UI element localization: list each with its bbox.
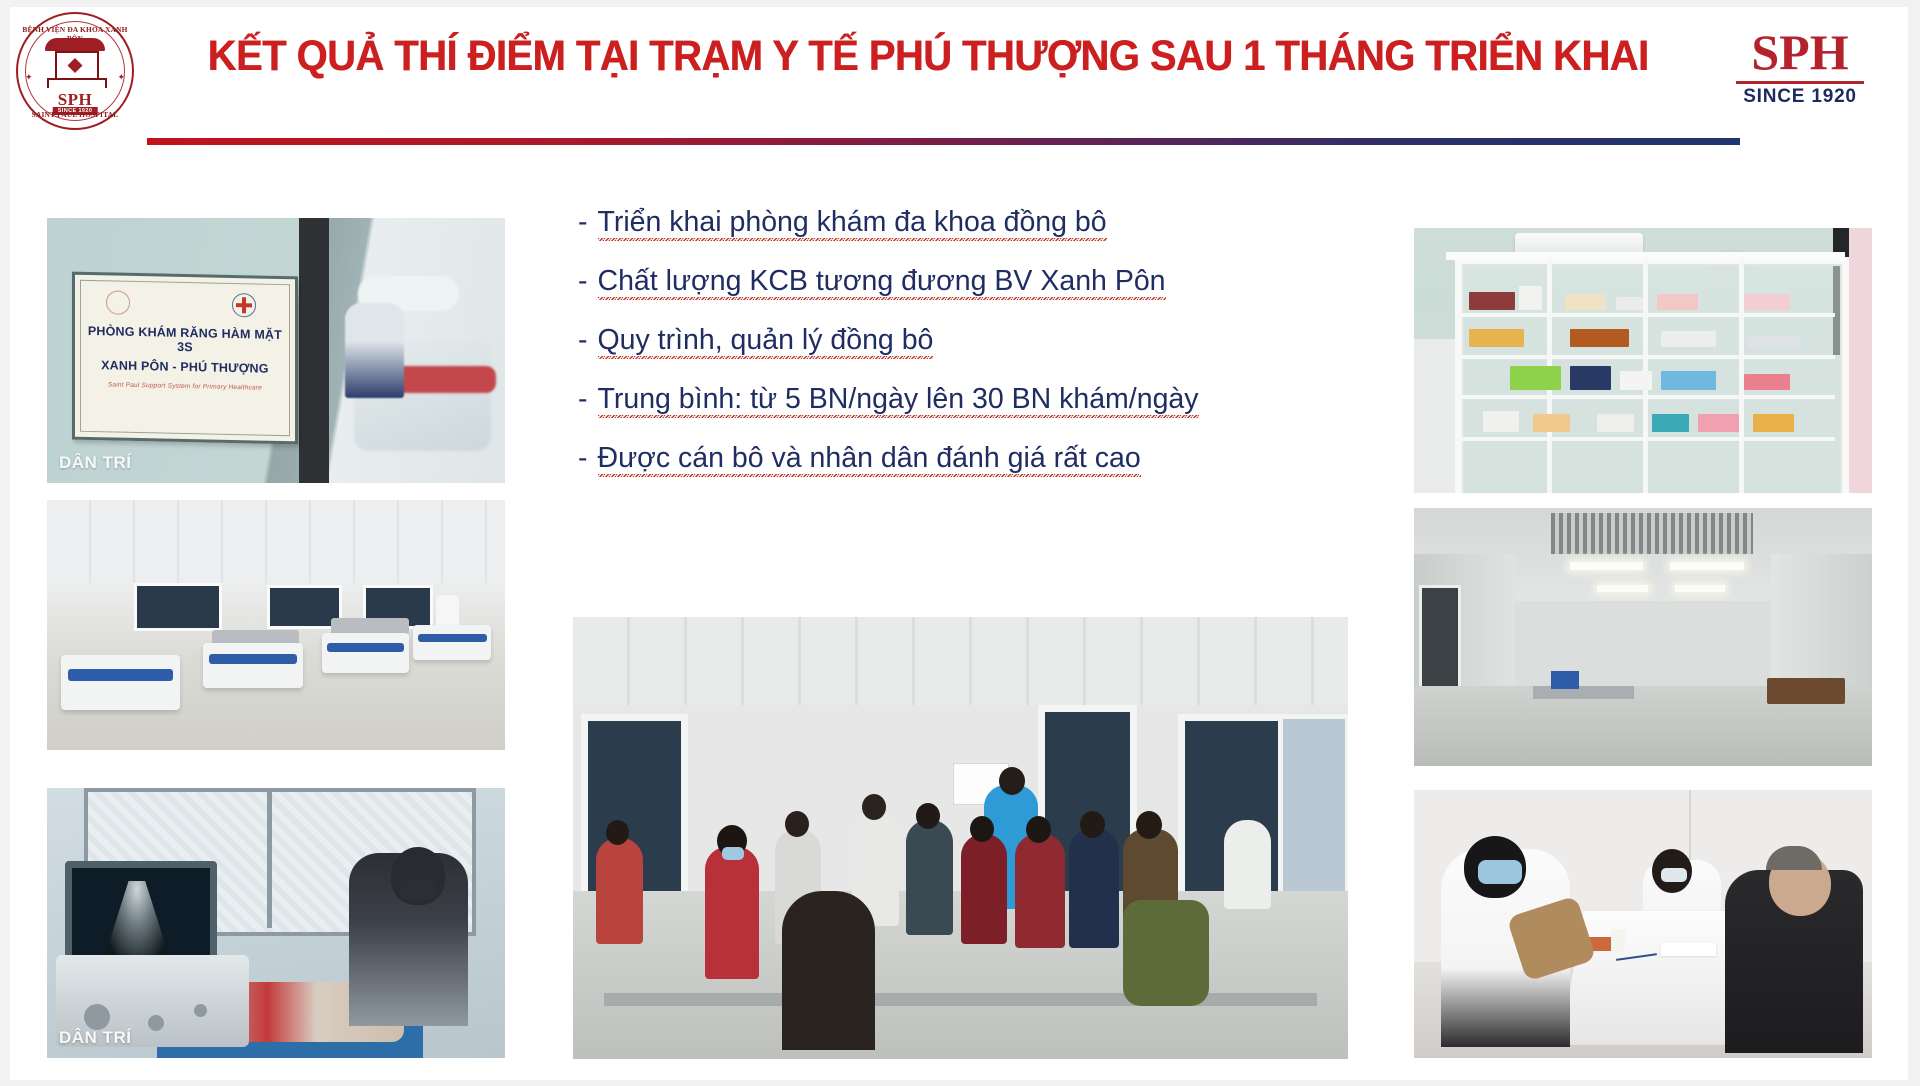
photo-inpatient-ward bbox=[47, 500, 505, 750]
medicine-box bbox=[1616, 297, 1643, 310]
medicine-box bbox=[1510, 366, 1560, 390]
medicine-box bbox=[1469, 292, 1515, 311]
left-wall-panel bbox=[1414, 339, 1460, 493]
bullet-item-1: - Triển khai phòng khám đa khoa đồng bô bbox=[578, 205, 1298, 241]
bullet-item-2: - Chất lượng KCB tương đương BV Xanh Pôn bbox=[578, 264, 1298, 300]
ceiling-light-3 bbox=[1597, 585, 1647, 591]
ceiling-grille bbox=[1551, 513, 1753, 554]
bullet-text: Trung bình: từ 5 BN/ngày lên 30 BN khám/… bbox=[598, 382, 1199, 418]
page-title: KẾT QUẢ THÍ ĐIỂM TẠI TRẠM Y TẾ PHÚ THƯỢN… bbox=[203, 30, 1654, 82]
slide-edge-bottom bbox=[0, 1080, 1920, 1086]
signboard-inner: PHÒNG KHÁM RĂNG HÀM MẶT 3S XANH PÔN - PH… bbox=[80, 279, 290, 435]
medicine-box bbox=[1661, 371, 1716, 390]
crest-star-right-icon: ✦ bbox=[117, 72, 125, 83]
person-foreground-red bbox=[705, 847, 759, 980]
bullet-item-4: - Trung bình: từ 5 BN/ngày lên 30 BN khá… bbox=[578, 382, 1298, 418]
medicine-box bbox=[1570, 366, 1611, 390]
bullet-text: Quy trình, quản lý đồng bô bbox=[598, 323, 934, 359]
consultation-table bbox=[1561, 911, 1753, 1045]
crest-bottom-label: SAINT PAUL HOSPITAL bbox=[16, 110, 134, 119]
exam-bed-area bbox=[1224, 820, 1271, 908]
face-mask-icon bbox=[1661, 868, 1687, 882]
sph-brand-logo: SPH SINCE 1920 bbox=[1720, 26, 1880, 108]
photo-clinic-corridor bbox=[1414, 508, 1872, 766]
face-mask-icon bbox=[1478, 860, 1522, 884]
paper-documents bbox=[1661, 943, 1716, 956]
console-knob-2 bbox=[148, 1015, 164, 1031]
cabinet-shelf-2 bbox=[1455, 355, 1835, 359]
reception-desk bbox=[1767, 678, 1845, 704]
national-emblem-icon bbox=[106, 290, 130, 315]
cabinet-shelf-1 bbox=[1455, 313, 1835, 317]
medicine-box bbox=[1620, 371, 1652, 390]
medicine-box bbox=[1753, 414, 1794, 433]
bullet-dash: - bbox=[578, 441, 588, 475]
slide-edge-left bbox=[0, 0, 10, 1086]
person-left-edge bbox=[596, 838, 643, 944]
console-knob-1 bbox=[84, 1004, 110, 1030]
medicine-box bbox=[1744, 374, 1790, 390]
medicine-box bbox=[1652, 414, 1689, 433]
photo-dental-clinic-sign: PHÒNG KHÁM RĂNG HÀM MẶT 3S XANH PÔN - PH… bbox=[47, 218, 505, 483]
medicine-box bbox=[1698, 414, 1739, 433]
bullet-dash: - bbox=[578, 382, 588, 416]
slide-edge-right bbox=[1908, 0, 1920, 1086]
signboard-line-2: XANH PÔN - PHÚ THƯỢNG bbox=[81, 357, 289, 375]
sph-brand-since: SINCE 1920 bbox=[1720, 86, 1880, 108]
blue-chair bbox=[1551, 671, 1578, 689]
bullet-text: Chất lượng KCB tương đương BV Xanh Pôn bbox=[598, 264, 1166, 300]
hospital-bed-4 bbox=[413, 625, 491, 660]
crest-star-left-icon: ✦ bbox=[25, 72, 33, 83]
crest-roof-shape bbox=[45, 38, 105, 51]
person-seated-3 bbox=[961, 834, 1008, 945]
photo-watermark: DÂN TRÍ bbox=[59, 1028, 131, 1048]
door-frame bbox=[299, 218, 329, 483]
ceiling-light-1 bbox=[1570, 562, 1643, 570]
chair-row bbox=[604, 993, 1317, 1006]
title-divider-rule bbox=[147, 138, 1740, 145]
corridor-bench bbox=[1533, 686, 1634, 699]
photo-ultrasound-exam: DÂN TRÍ bbox=[47, 788, 505, 1058]
bullet-dash: - bbox=[578, 264, 588, 298]
ultrasound-scan-image bbox=[103, 881, 172, 963]
cabinet-shelf-3 bbox=[1455, 395, 1835, 399]
hospital-bed-2 bbox=[203, 643, 304, 688]
medicine-box bbox=[1657, 294, 1698, 310]
medicine-box bbox=[1597, 414, 1634, 433]
console-knob-3 bbox=[194, 1004, 207, 1017]
bullet-dash: - bbox=[578, 205, 588, 239]
photo-watermark: DÂN TRÍ bbox=[59, 453, 131, 473]
person-head bbox=[1136, 811, 1162, 839]
person-head bbox=[1026, 816, 1051, 843]
photo-pharmacy-cabinet bbox=[1414, 228, 1872, 493]
red-cross-icon bbox=[232, 293, 256, 318]
sanitizer-bottle bbox=[1611, 929, 1625, 953]
face-mask-icon bbox=[400, 880, 436, 900]
face-mask-icon bbox=[722, 847, 744, 860]
signboard-line-3: Saint Paul Support System for Primary He… bbox=[81, 380, 289, 391]
person-seated-2 bbox=[906, 820, 953, 935]
person-head bbox=[916, 803, 940, 829]
medicine-box bbox=[1483, 411, 1520, 432]
crest-base-shape bbox=[47, 78, 107, 88]
hospital-crest-logo: BỆNH VIỆN ĐA KHOA XANH PÔN ✦ ✦ SPH SINCE… bbox=[16, 12, 134, 130]
sph-brand-word: SPH bbox=[1720, 26, 1880, 78]
photo-consultation-room bbox=[1414, 790, 1872, 1058]
waiting-ceiling bbox=[573, 617, 1348, 714]
nurse-figure bbox=[345, 303, 405, 398]
window-mullion bbox=[267, 788, 272, 928]
person-foreground-dark bbox=[782, 891, 875, 1050]
bullet-item-3: - Quy trình, quản lý đồng bô bbox=[578, 323, 1298, 359]
hospital-bed-1 bbox=[61, 655, 180, 710]
coat-on-lap bbox=[1123, 900, 1208, 1006]
hospital-bed-3 bbox=[322, 633, 409, 673]
medicine-box bbox=[1570, 329, 1630, 348]
bullet-item-5: - Được cán bô và nhân dân đánh giá rất c… bbox=[578, 441, 1298, 477]
medicine-box bbox=[1469, 329, 1524, 348]
bullet-list: - Triển khai phòng khám đa khoa đồng bô … bbox=[578, 205, 1298, 500]
ceiling-light-2 bbox=[1670, 562, 1743, 570]
cabinet-shelf-4 bbox=[1455, 437, 1835, 441]
slide-header: BỆNH VIỆN ĐA KHOA XANH PÔN ✦ ✦ SPH SINCE… bbox=[0, 0, 1920, 150]
clinic-signboard: PHÒNG KHÁM RĂNG HÀM MẶT 3S XANH PÔN - PH… bbox=[72, 271, 298, 443]
medicine-box bbox=[1533, 414, 1570, 433]
person-seated-5 bbox=[1069, 829, 1119, 948]
medicine-box bbox=[1748, 337, 1798, 348]
slide-canvas: BỆNH VIỆN ĐA KHOA XANH PÔN ✦ ✦ SPH SINCE… bbox=[0, 0, 1920, 1086]
crest-arch-icon bbox=[43, 38, 107, 94]
medicine-box bbox=[1519, 286, 1542, 310]
ceiling-light-4 bbox=[1675, 585, 1725, 591]
sph-brand-rule bbox=[1736, 81, 1864, 84]
person-head bbox=[970, 816, 994, 842]
ward-window-1 bbox=[134, 583, 222, 632]
signboard-line-1: PHÒNG KHÁM RĂNG HÀM MẶT 3S bbox=[81, 323, 289, 355]
person-head bbox=[606, 820, 629, 845]
person-head bbox=[785, 811, 809, 837]
medicine-box bbox=[1661, 331, 1716, 347]
bullet-text: Được cán bô và nhân dân đánh giá rất cao bbox=[598, 441, 1141, 477]
person-seated-4 bbox=[1015, 834, 1065, 949]
bullet-dash: - bbox=[578, 323, 588, 357]
photo-waiting-area bbox=[573, 617, 1348, 1059]
person-head bbox=[862, 794, 886, 820]
medicine-box bbox=[1565, 294, 1606, 310]
ceiling-tiles bbox=[47, 500, 505, 583]
bullet-text: Triển khai phòng khám đa khoa đồng bô bbox=[598, 205, 1107, 241]
medicine-box bbox=[1744, 294, 1790, 310]
